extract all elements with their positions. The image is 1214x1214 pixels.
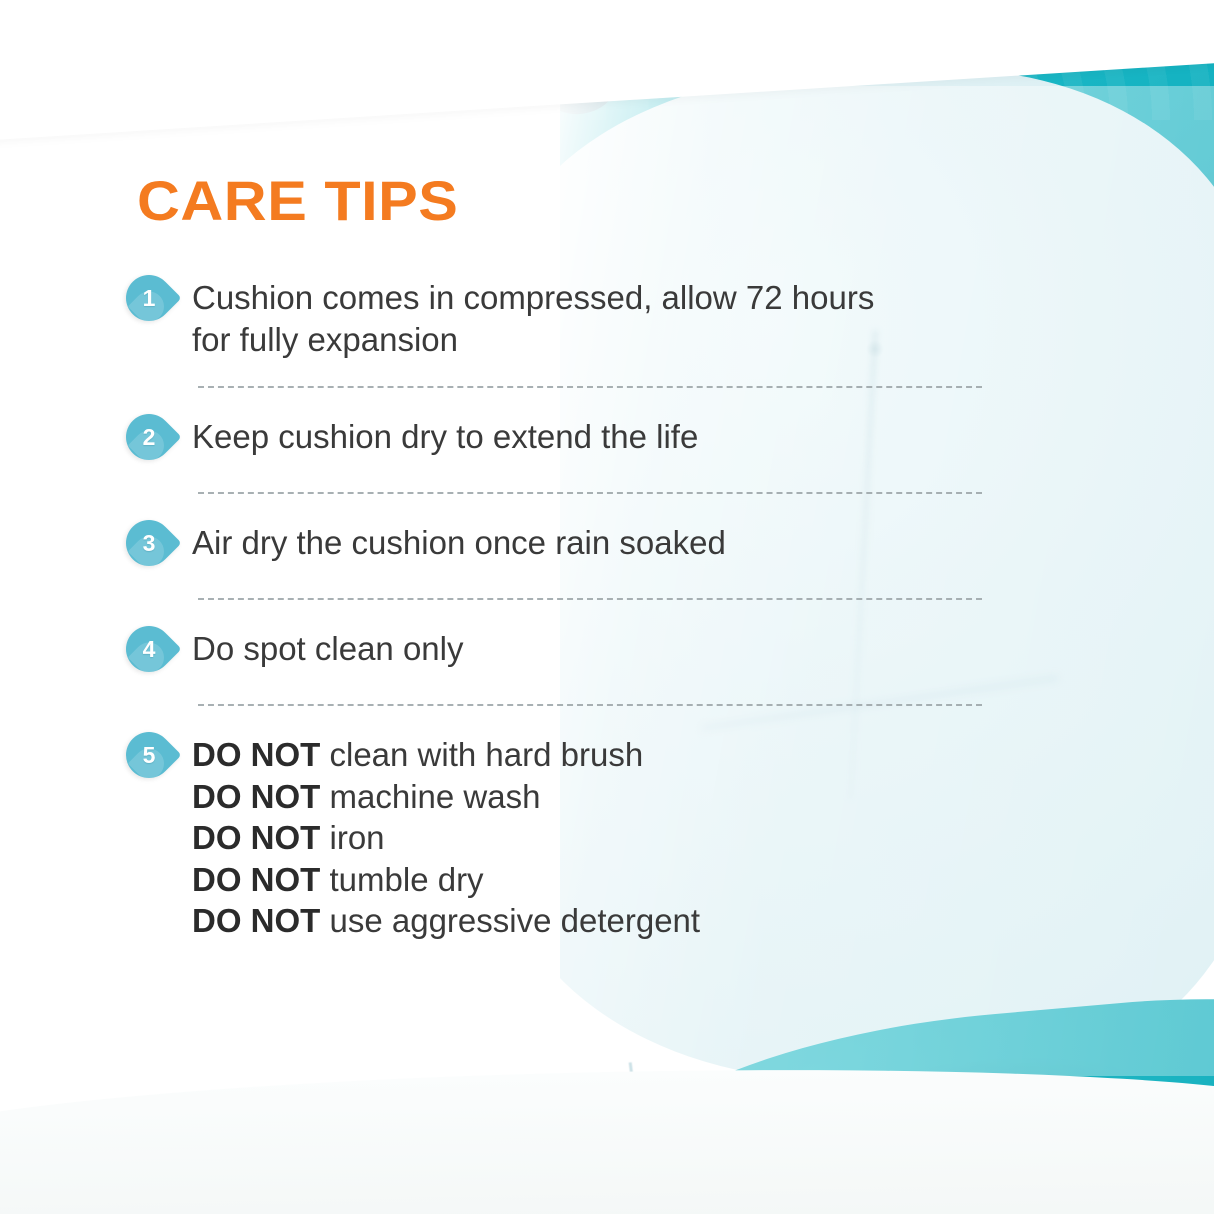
tip-line: Cushion comes in compressed, allow 72 ho… bbox=[192, 277, 1006, 319]
list-item: 2 Keep cushion dry to extend the life bbox=[126, 414, 1006, 466]
dashed-divider bbox=[198, 598, 982, 600]
donot-line: DO NOT iron bbox=[192, 817, 1006, 859]
tip-line: Air dry the cushion once rain soaked bbox=[192, 522, 1006, 564]
water-drop-badge-icon: 2 bbox=[126, 414, 178, 466]
donot-action: use aggressive detergent bbox=[330, 902, 701, 939]
tip-text: Air dry the cushion once rain soaked bbox=[192, 520, 1006, 564]
page-title: CARE TIPS bbox=[137, 168, 458, 233]
content-layer: CARE TIPS 1 Cushion comes in compressed,… bbox=[0, 0, 1214, 1214]
list-item: 4 Do spot clean only bbox=[126, 626, 1006, 678]
tip-text-donot-list: DO NOT clean with hard brush DO NOT mach… bbox=[192, 732, 1006, 942]
badge-number: 3 bbox=[126, 520, 172, 566]
care-tips-list: 1 Cushion comes in compressed, allow 72 … bbox=[126, 275, 1006, 942]
water-drop-badge-icon: 4 bbox=[126, 626, 178, 678]
dashed-divider bbox=[198, 492, 982, 494]
care-tips-infographic: CARE TIPS 1 Cushion comes in compressed,… bbox=[0, 0, 1214, 1214]
tip-line: Keep cushion dry to extend the life bbox=[192, 416, 1006, 458]
donot-action: clean with hard brush bbox=[330, 736, 644, 773]
list-item: 1 Cushion comes in compressed, allow 72 … bbox=[126, 275, 1006, 360]
tip-text: Do spot clean only bbox=[192, 626, 1006, 670]
tip-line: for fully expansion bbox=[192, 319, 1006, 361]
donot-label: DO NOT bbox=[192, 778, 320, 815]
list-item: 3 Air dry the cushion once rain soaked bbox=[126, 520, 1006, 572]
dashed-divider bbox=[198, 704, 982, 706]
donot-line: DO NOT machine wash bbox=[192, 776, 1006, 818]
list-item: 5 DO NOT clean with hard brush DO NOT ma… bbox=[126, 732, 1006, 942]
water-drop-badge-icon: 1 bbox=[126, 275, 178, 327]
donot-label: DO NOT bbox=[192, 736, 320, 773]
donot-action: machine wash bbox=[330, 778, 541, 815]
donot-line: DO NOT tumble dry bbox=[192, 859, 1006, 901]
badge-number: 5 bbox=[126, 732, 172, 778]
donot-label: DO NOT bbox=[192, 902, 320, 939]
donot-line: DO NOT clean with hard brush bbox=[192, 734, 1006, 776]
donot-line: DO NOT use aggressive detergent bbox=[192, 900, 1006, 942]
badge-number: 2 bbox=[126, 414, 172, 460]
donot-action: iron bbox=[330, 819, 385, 856]
badge-number: 4 bbox=[126, 626, 172, 672]
donot-label: DO NOT bbox=[192, 861, 320, 898]
donot-label: DO NOT bbox=[192, 819, 320, 856]
badge-number: 1 bbox=[126, 275, 172, 321]
donot-action: tumble dry bbox=[330, 861, 484, 898]
dashed-divider bbox=[198, 386, 982, 388]
tip-text: Cushion comes in compressed, allow 72 ho… bbox=[192, 275, 1006, 360]
tip-text: Keep cushion dry to extend the life bbox=[192, 414, 1006, 458]
tip-line: Do spot clean only bbox=[192, 628, 1006, 670]
water-drop-badge-icon: 5 bbox=[126, 732, 178, 784]
water-drop-badge-icon: 3 bbox=[126, 520, 178, 572]
